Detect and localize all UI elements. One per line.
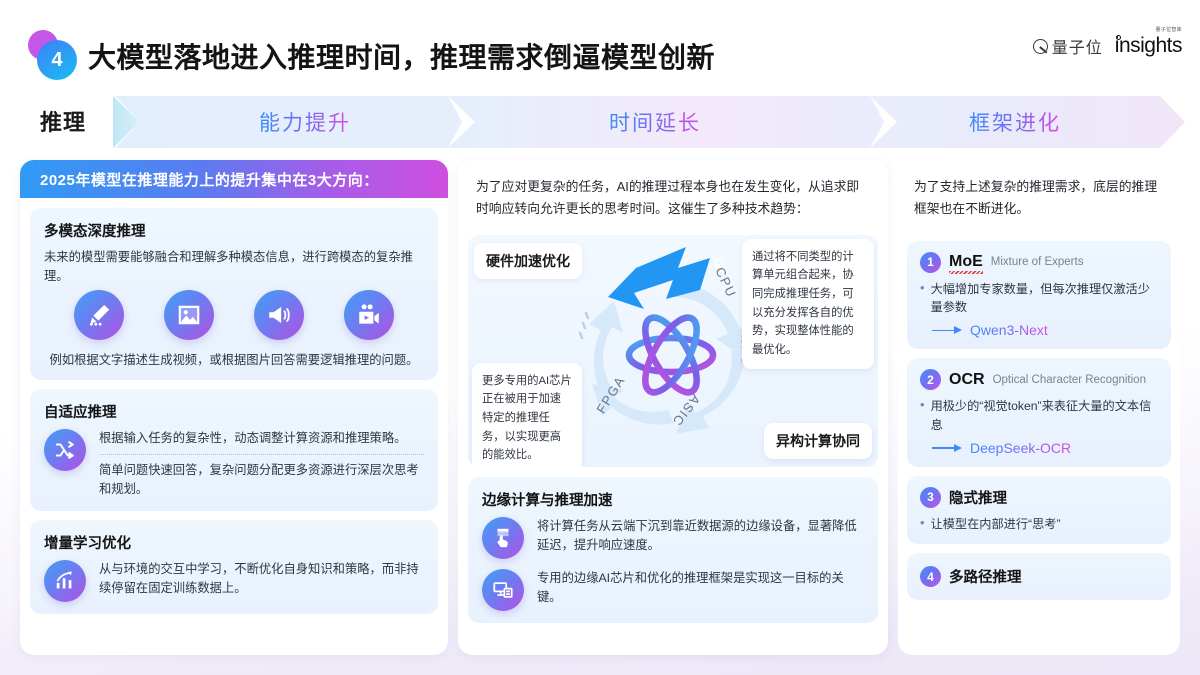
ribbon-stage-0-label: 能力提升 xyxy=(259,107,351,137)
framework-link-ocr[interactable]: DeepSeek-OCR xyxy=(920,440,1158,456)
framework-bullet-ocr: 用极少的“视觉token”来表征大量的文本信息 xyxy=(931,397,1158,434)
framework-full-ocr: Optical Character Recognition xyxy=(993,374,1146,386)
middle-intro: 为了应对更复杂的任务，AI的推理过程本身也在发生变化，从追求即时响应转向允许更长… xyxy=(458,160,888,235)
left-panel: 2025年模型在推理能力上的提升集中在3大方向： 多模态深度推理 未来的模型需要… xyxy=(20,160,448,655)
insights-logo: insights 量子位智库 xyxy=(1115,34,1182,58)
shuffle-icon xyxy=(44,429,86,471)
insights-superscript: 量子位智库 xyxy=(1155,26,1182,33)
framework-link-moe-label: Qwen3-Next xyxy=(970,322,1048,338)
framework-link-ocr-label: DeepSeek-OCR xyxy=(970,440,1071,456)
megaphone-audio-icon xyxy=(254,290,304,340)
card-edge-text-1: 专用的边缘AI芯片和优化的推理框架是实现这一目标的关键。 xyxy=(537,569,864,607)
ribbon-stage-0: 能力提升 xyxy=(155,96,455,148)
bullet-dot: • xyxy=(920,397,925,434)
framework-item-ocr: 2 OCR Optical Character Recognition • 用极… xyxy=(907,358,1171,467)
card-adaptive: 自适应推理 根据输入任务的复杂性，动态调整计算资源和推理策略。 简单问题快速回答… xyxy=(30,389,438,511)
framework-item-implicit: 3 隐式推理 • 让模型在内部进行“思考” xyxy=(907,476,1171,544)
stage-ribbon: 推理 能力提升 时间延长 框架进化 xyxy=(0,96,1200,148)
card-multimodal-note: 例如根据文字描述生成视频，或根据图片回答需要逻辑推理的问题。 xyxy=(44,346,424,368)
left-column: 2025年模型在推理能力上的提升集中在3大方向： 多模态深度推理 未来的模型需要… xyxy=(20,160,448,655)
compute-cycle-diagram: GPU CPU NPU ASIC FPGA 硬件加速优化 异构计算协同 通过将不… xyxy=(468,235,878,467)
arrow-right-icon xyxy=(932,443,962,452)
framework-number-1: 1 xyxy=(920,252,941,273)
card-incremental: 增量学习优化 从与环境的交互中学习，不断优化自身知识和策略，而非持续停留在固定训… xyxy=(30,520,438,614)
page-title: 大模型落地进入推理时间，推理需求倒逼模型创新 xyxy=(88,36,715,76)
framework-title-implicit: 隐式推理 xyxy=(949,487,1007,508)
ribbon-stage-2-label: 框架进化 xyxy=(969,107,1061,137)
right-intro: 为了支持上述复杂的推理需求，底层的推理框架也在不断进化。 xyxy=(898,160,1180,235)
diagram-title-hardware: 硬件加速优化 xyxy=(474,243,582,279)
framework-number-3: 3 xyxy=(920,487,941,508)
left-banner: 2025年模型在推理能力上的提升集中在3大方向： xyxy=(20,160,448,198)
section-number-badge: 4 xyxy=(28,30,80,80)
framework-bullet-moe: 大幅增加专家数量，但每次推理仅激活少量参数 xyxy=(931,280,1158,317)
card-edge-computing: 边缘计算与推理加速 将计算任务从云端下沉到靠近数据源的边缘设备，显著降低延迟，提… xyxy=(468,477,878,623)
brand-logo: 量子位 insights 量子位智库 xyxy=(1033,34,1182,58)
image-icon xyxy=(164,290,214,340)
arrow-right-icon xyxy=(932,326,962,335)
qbit-logo: 量子位 xyxy=(1033,34,1103,58)
bullet-dot: • xyxy=(920,280,925,317)
ribbon-stage-1: 时间延长 xyxy=(505,96,805,148)
insights-dot-icon xyxy=(1116,35,1121,40)
card-adaptive-line-1: 简单问题快速回答，复杂问题分配更多资源进行深层次思考和规划。 xyxy=(99,461,424,499)
framework-bullet-implicit: 让模型在内部进行“思考” xyxy=(931,515,1061,533)
card-incremental-line-0: 从与环境的交互中学习，不断优化自身知识和策略，而非持续停留在固定训练数据上。 xyxy=(99,560,424,598)
dotted-separator xyxy=(99,454,424,455)
diagram-title-heterogeneous: 异构计算协同 xyxy=(764,423,872,459)
card-adaptive-heading: 自适应推理 xyxy=(44,401,424,422)
middle-column: 为了应对更复杂的任务，AI的推理过程本身也在发生变化，从追求即时响应转向允许更长… xyxy=(458,160,888,655)
card-edge-heading: 边缘计算与推理加速 xyxy=(482,489,864,510)
badge-number: 4 xyxy=(37,40,77,80)
framework-abbr-moe: MoE xyxy=(949,253,983,271)
framework-number-2: 2 xyxy=(920,369,941,390)
growth-chart-icon xyxy=(44,560,86,602)
card-multimodal-heading: 多模态深度推理 xyxy=(44,220,424,241)
diagram-callout-right: 通过将不同类型的计算单元组合起来，协同完成推理任务，可以充分发挥各自的优势，实现… xyxy=(742,239,874,369)
pencil-text-icon xyxy=(74,290,124,340)
framework-abbr-ocr: OCR xyxy=(949,371,985,389)
right-column: 为了支持上述复杂的推理需求，底层的推理框架也在不断进化。 1 MoE Mixtu… xyxy=(898,160,1180,655)
card-multimodal-desc: 未来的模型需要能够融合和理解多种模态信息，进行跨模态的复杂推理。 xyxy=(44,248,424,286)
card-incremental-heading: 增量学习优化 xyxy=(44,532,424,553)
insights-label: insights xyxy=(1115,34,1182,57)
right-panel: 为了支持上述复杂的推理需求，底层的推理框架也在不断进化。 1 MoE Mixtu… xyxy=(898,160,1180,655)
card-multimodal: 多模态深度推理 未来的模型需要能够融合和理解多种模态信息，进行跨模态的复杂推理。 xyxy=(30,208,438,380)
card-adaptive-line-0: 根据输入任务的复杂性，动态调整计算资源和推理策略。 xyxy=(99,429,424,448)
framework-number-4: 4 xyxy=(920,566,941,587)
framework-item-multipath: 4 多路径推理 xyxy=(907,553,1171,600)
magnifier-icon xyxy=(1033,39,1048,54)
page-header: 4 大模型落地进入推理时间，推理需求倒逼模型创新 量子位 insights 量子… xyxy=(0,0,1200,88)
video-camera-icon xyxy=(344,290,394,340)
framework-link-moe[interactable]: Qwen3-Next xyxy=(920,322,1158,338)
ribbon-stage-2: 框架进化 xyxy=(880,96,1150,148)
framework-item-moe: 1 MoE Mixture of Experts • 大幅增加专家数量，但每次推… xyxy=(907,241,1171,350)
middle-panel: 为了应对更复杂的任务，AI的推理过程本身也在发生变化，从追求即时响应转向允许更长… xyxy=(458,160,888,655)
modality-icon-row xyxy=(44,286,424,346)
ribbon-stage-1-label: 时间延长 xyxy=(609,107,701,137)
card-edge-text-0: 将计算任务从云端下沉到靠近数据源的边缘设备，显著降低延迟，提升响应速度。 xyxy=(537,517,864,555)
framework-full-moe: Mixture of Experts xyxy=(991,256,1084,268)
diagram-callout-left: 更多专用的AI芯片正在被用于加速特定的推理任务，以实现更高的能效比。 xyxy=(472,363,582,467)
edge-device-icon xyxy=(482,517,524,559)
edge-chip-icon xyxy=(482,569,524,611)
framework-title-multipath: 多路径推理 xyxy=(949,566,1022,587)
qbit-label: 量子位 xyxy=(1052,34,1103,58)
bullet-dot: • xyxy=(920,515,925,533)
